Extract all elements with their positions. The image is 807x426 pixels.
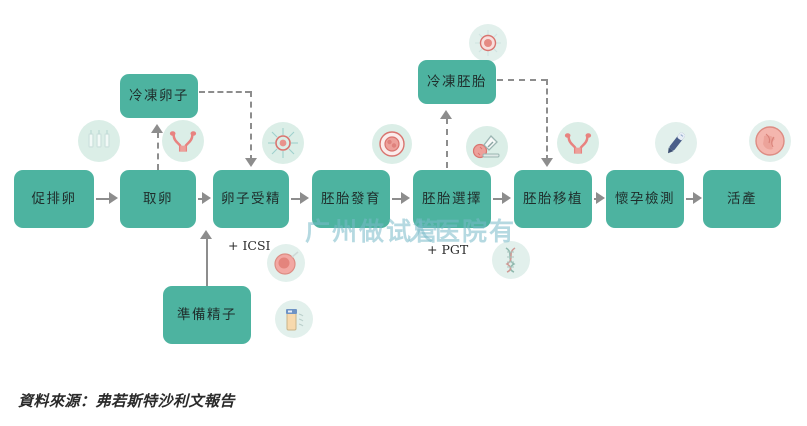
step-label: 胚胎發育 xyxy=(321,191,381,207)
pregnancy-test-icon xyxy=(655,122,697,164)
diagram-canvas: 广州做试管 人医院有 促排卵 取卵 卵子受精 胚胎發育 胚胎選擇 胚胎移植 懷孕… xyxy=(0,0,807,426)
freeze-embryo-to-transfer-v xyxy=(546,79,548,161)
icsi-needle-egg-icon xyxy=(267,244,305,282)
step-node-胚胎移植[interactable]: 胚胎移植 xyxy=(514,170,592,228)
freeze-eggs-to-fertilization-h xyxy=(199,91,251,93)
branch-node-冷凍卵子[interactable]: 冷凍卵子 xyxy=(120,74,198,118)
step-label: 懷孕檢測 xyxy=(615,191,675,207)
step-node-胚胎發育[interactable]: 胚胎發育 xyxy=(312,170,390,228)
flow-arrow-5-head xyxy=(502,192,511,204)
step-label: 胚胎選擇 xyxy=(422,191,482,207)
step-node-懷孕檢測[interactable]: 懷孕檢測 xyxy=(606,170,684,228)
selection-to-freeze-embryo-line xyxy=(446,118,448,168)
flow-arrow-1-line xyxy=(96,198,110,200)
branch-node-冷凍胚胎[interactable]: 冷凍胚胎 xyxy=(418,60,496,104)
step-node-取卵[interactable]: 取卵 xyxy=(120,170,196,228)
uterus-icon xyxy=(557,122,599,164)
source-note: 資料來源：弗若斯特沙利文報告 xyxy=(18,390,235,411)
uterus-icon xyxy=(162,120,204,162)
fetus-baby-icon xyxy=(749,120,791,162)
sperm-to-fertilization-head xyxy=(200,230,212,239)
branch-label: 冷凍卵子 xyxy=(129,88,189,104)
step-label: 活產 xyxy=(727,191,757,207)
sperm-to-fertilization-line xyxy=(206,237,208,287)
annotation-icsi: + ICSI xyxy=(228,238,270,253)
hormone-vials-icon xyxy=(78,120,120,162)
sperm-egg-icon xyxy=(262,122,304,164)
step-label: 胚胎移植 xyxy=(523,191,583,207)
flow-arrow-7-head xyxy=(693,192,702,204)
step-node-卵子受精[interactable]: 卵子受精 xyxy=(213,170,289,228)
sperm-sample-icon xyxy=(275,300,313,338)
freeze-embryo-to-transfer-head xyxy=(541,158,553,167)
retrieval-to-freeze-eggs-head xyxy=(151,124,163,133)
step-node-活產[interactable]: 活產 xyxy=(703,170,781,228)
flow-arrow-6-head xyxy=(596,192,605,204)
step-label: 卵子受精 xyxy=(221,191,281,207)
flow-arrow-4-head xyxy=(401,192,410,204)
selection-to-freeze-embryo-head xyxy=(440,110,452,119)
frozen-embryo-icon xyxy=(469,24,507,62)
flow-arrow-3-head xyxy=(300,192,309,204)
microscope-icon xyxy=(466,126,508,168)
retrieval-to-freeze-eggs-line xyxy=(157,132,159,170)
step-label: 取卵 xyxy=(143,191,173,207)
flow-arrow-2-head xyxy=(202,192,211,204)
flow-arrow-1-head xyxy=(109,192,118,204)
step-label: 促排卵 xyxy=(32,191,77,207)
dna-helix-icon xyxy=(492,241,530,279)
branch-label: 準備精子 xyxy=(177,307,237,323)
branch-label: 冷凍胚胎 xyxy=(427,74,487,90)
step-node-胚胎選擇[interactable]: 胚胎選擇 xyxy=(413,170,491,228)
freeze-eggs-to-fertilization-head xyxy=(245,158,257,167)
branch-node-準備精子[interactable]: 準備精子 xyxy=(163,286,251,344)
freeze-eggs-to-fertilization-v xyxy=(250,91,252,161)
freeze-embryo-to-transfer-h xyxy=(497,79,547,81)
annotation-pgt: + PGT xyxy=(427,242,468,257)
embryo-cell-icon xyxy=(372,124,412,164)
step-node-促排卵[interactable]: 促排卵 xyxy=(14,170,94,228)
